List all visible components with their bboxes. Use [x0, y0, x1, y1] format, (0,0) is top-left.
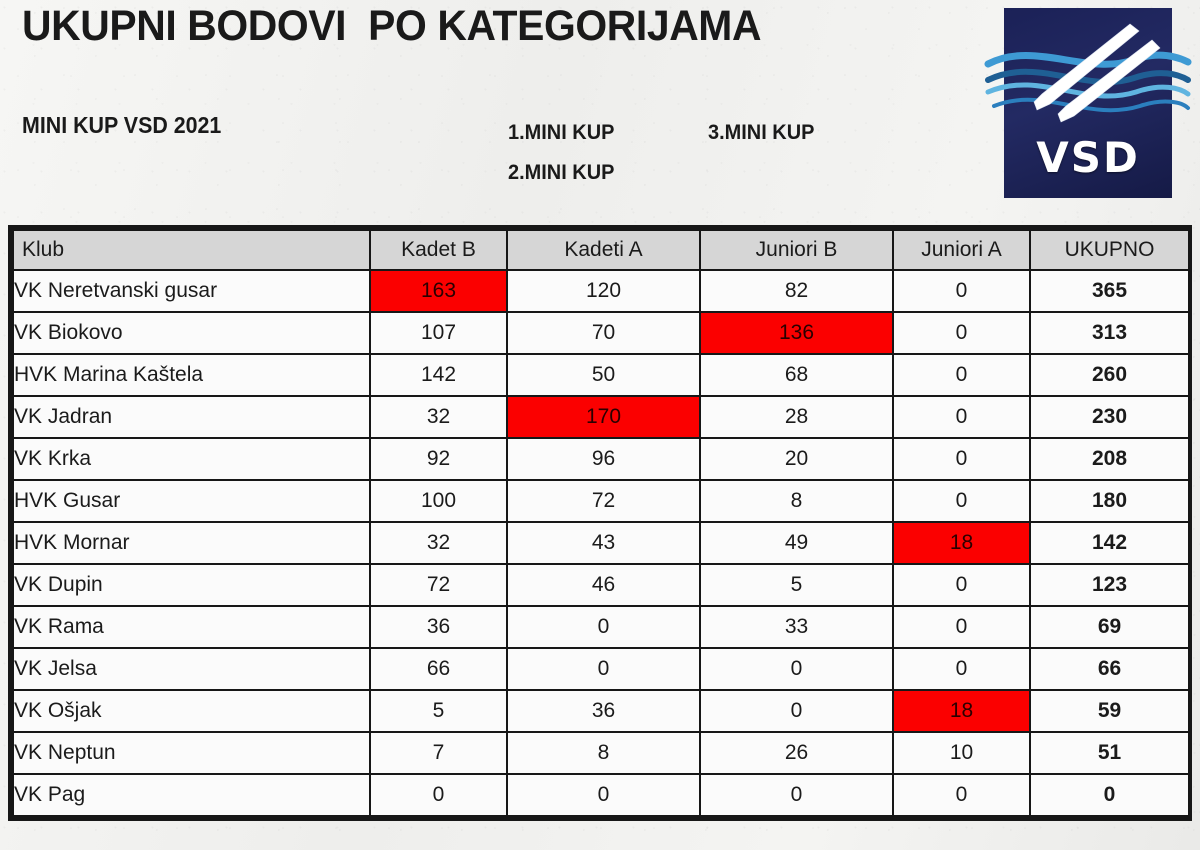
column-header-kadet-b: Kadet B [370, 230, 507, 270]
cell-juniori-b: 68 [700, 354, 893, 396]
table-header-row: Klub Kadet B Kadeti A Juniori B Juniori … [13, 230, 1189, 270]
cell-ukupno: 180 [1030, 480, 1189, 522]
mini-kup-list-column-2: 3.MINI KUP [708, 113, 814, 153]
cell-kadeti-a: 120 [507, 270, 700, 312]
cell-kadeti-a: 72 [507, 480, 700, 522]
cell-ukupno: 59 [1030, 690, 1189, 732]
cell-juniori-a: 0 [893, 438, 1030, 480]
table-row: VK Krka9296200208 [13, 438, 1189, 480]
cell-club-name: VK Rama [13, 606, 370, 648]
table-row: HVK Mornar32434918142 [13, 522, 1189, 564]
table-body: VK Neretvanski gusar163120820365VK Bioko… [13, 270, 1189, 816]
cell-club-name: HVK Marina Kaštela [13, 354, 370, 396]
cell-ukupno: 365 [1030, 270, 1189, 312]
cell-kadet-b-highlighted: 163 [370, 270, 507, 312]
logo-crossed-oars-icon [1004, 18, 1172, 128]
table-row: HVK Marina Kaštela14250680260 [13, 354, 1189, 396]
cell-club-name: VK Jadran [13, 396, 370, 438]
table-row: VK Ošjak53601859 [13, 690, 1189, 732]
event-subtitle: MINI KUP VSD 2021 [22, 112, 221, 139]
cell-ukupno: 66 [1030, 648, 1189, 690]
scores-table: Klub Kadet B Kadeti A Juniori B Juniori … [12, 229, 1190, 817]
cell-club-name: HVK Mornar [13, 522, 370, 564]
vsd-logo: VSD [1004, 8, 1172, 198]
cell-ukupno: 123 [1030, 564, 1189, 606]
cell-ukupno: 313 [1030, 312, 1189, 354]
cell-juniori-b: 33 [700, 606, 893, 648]
table-row: VK Jelsa6600066 [13, 648, 1189, 690]
cell-kadet-b: 92 [370, 438, 507, 480]
cell-kadet-b: 107 [370, 312, 507, 354]
cell-juniori-b: 0 [700, 690, 893, 732]
cell-juniori-a: 0 [893, 606, 1030, 648]
cell-ukupno: 260 [1030, 354, 1189, 396]
cell-kadeti-a: 8 [507, 732, 700, 774]
cell-kadeti-a: 36 [507, 690, 700, 732]
cell-ukupno: 208 [1030, 438, 1189, 480]
cell-club-name: VK Ošjak [13, 690, 370, 732]
cell-juniori-a: 0 [893, 774, 1030, 816]
cell-juniori-a: 0 [893, 396, 1030, 438]
cell-juniori-a: 0 [893, 354, 1030, 396]
cell-kadet-b: 36 [370, 606, 507, 648]
cell-kadeti-a: 50 [507, 354, 700, 396]
cell-kadet-b: 100 [370, 480, 507, 522]
cell-juniori-b-highlighted: 136 [700, 312, 893, 354]
table-row: VK Pag00000 [13, 774, 1189, 816]
cell-kadet-b: 32 [370, 522, 507, 564]
cell-club-name: VK Jelsa [13, 648, 370, 690]
cell-juniori-a: 0 [893, 312, 1030, 354]
mini-kup-item-3: 3.MINI KUP [708, 113, 814, 153]
cell-juniori-a: 10 [893, 732, 1030, 774]
cell-club-name: HVK Gusar [13, 480, 370, 522]
cell-kadet-b: 142 [370, 354, 507, 396]
cell-juniori-a: 0 [893, 564, 1030, 606]
column-header-kadeti-a: Kadeti A [507, 230, 700, 270]
cell-juniori-b: 8 [700, 480, 893, 522]
cell-club-name: VK Neptun [13, 732, 370, 774]
cell-kadet-b: 7 [370, 732, 507, 774]
cell-kadeti-a: 0 [507, 606, 700, 648]
cell-juniori-b: 49 [700, 522, 893, 564]
cell-club-name: VK Biokovo [13, 312, 370, 354]
cell-kadet-b: 0 [370, 774, 507, 816]
cell-juniori-a: 0 [893, 648, 1030, 690]
table-row: VK Dupin724650123 [13, 564, 1189, 606]
table-row: VK Neretvanski gusar163120820365 [13, 270, 1189, 312]
cell-kadeti-a-highlighted: 170 [507, 396, 700, 438]
table-row: VK Neptun78261051 [13, 732, 1189, 774]
cell-juniori-a: 0 [893, 270, 1030, 312]
logo-text: VSD [1004, 133, 1172, 182]
cell-club-name: VK Pag [13, 774, 370, 816]
cell-juniori-b: 0 [700, 774, 893, 816]
scores-table-container: Klub Kadet B Kadeti A Juniori B Juniori … [8, 225, 1192, 821]
cell-ukupno: 0 [1030, 774, 1189, 816]
cell-ukupno: 230 [1030, 396, 1189, 438]
cell-ukupno: 69 [1030, 606, 1189, 648]
cell-juniori-a-highlighted: 18 [893, 522, 1030, 564]
cell-juniori-a-highlighted: 18 [893, 690, 1030, 732]
cell-club-name: VK Krka [13, 438, 370, 480]
cell-ukupno: 142 [1030, 522, 1189, 564]
page-title: UKUPNI BODOVI PO KATEGORIJAMA [22, 4, 761, 49]
cell-kadet-b: 5 [370, 690, 507, 732]
cell-kadeti-a: 70 [507, 312, 700, 354]
cell-juniori-b: 82 [700, 270, 893, 312]
mini-kup-list-column-1: 1.MINI KUP 2.MINI KUP [508, 113, 614, 193]
table-row: HVK Gusar1007280180 [13, 480, 1189, 522]
column-header-klub: Klub [13, 230, 370, 270]
mini-kup-item-1: 1.MINI KUP [508, 113, 614, 153]
cell-club-name: VK Neretvanski gusar [13, 270, 370, 312]
table-row: VK Biokovo107701360313 [13, 312, 1189, 354]
cell-kadeti-a: 96 [507, 438, 700, 480]
column-header-juniori-b: Juniori B [700, 230, 893, 270]
cell-club-name: VK Dupin [13, 564, 370, 606]
table-row: VK Jadran32170280230 [13, 396, 1189, 438]
cell-juniori-a: 0 [893, 480, 1030, 522]
cell-kadeti-a: 46 [507, 564, 700, 606]
cell-kadet-b: 32 [370, 396, 507, 438]
cell-kadeti-a: 0 [507, 648, 700, 690]
cell-juniori-b: 28 [700, 396, 893, 438]
cell-ukupno: 51 [1030, 732, 1189, 774]
cell-kadet-b: 72 [370, 564, 507, 606]
cell-juniori-b: 26 [700, 732, 893, 774]
table-header: Klub Kadet B Kadeti A Juniori B Juniori … [13, 230, 1189, 270]
cell-kadeti-a: 0 [507, 774, 700, 816]
table-row: VK Rama36033069 [13, 606, 1189, 648]
cell-kadet-b: 66 [370, 648, 507, 690]
cell-juniori-b: 5 [700, 564, 893, 606]
column-header-ukupno: UKUPNO [1030, 230, 1189, 270]
mini-kup-item-2: 2.MINI KUP [508, 153, 614, 193]
column-header-juniori-a: Juniori A [893, 230, 1030, 270]
cell-juniori-b: 20 [700, 438, 893, 480]
cell-kadeti-a: 43 [507, 522, 700, 564]
cell-juniori-b: 0 [700, 648, 893, 690]
